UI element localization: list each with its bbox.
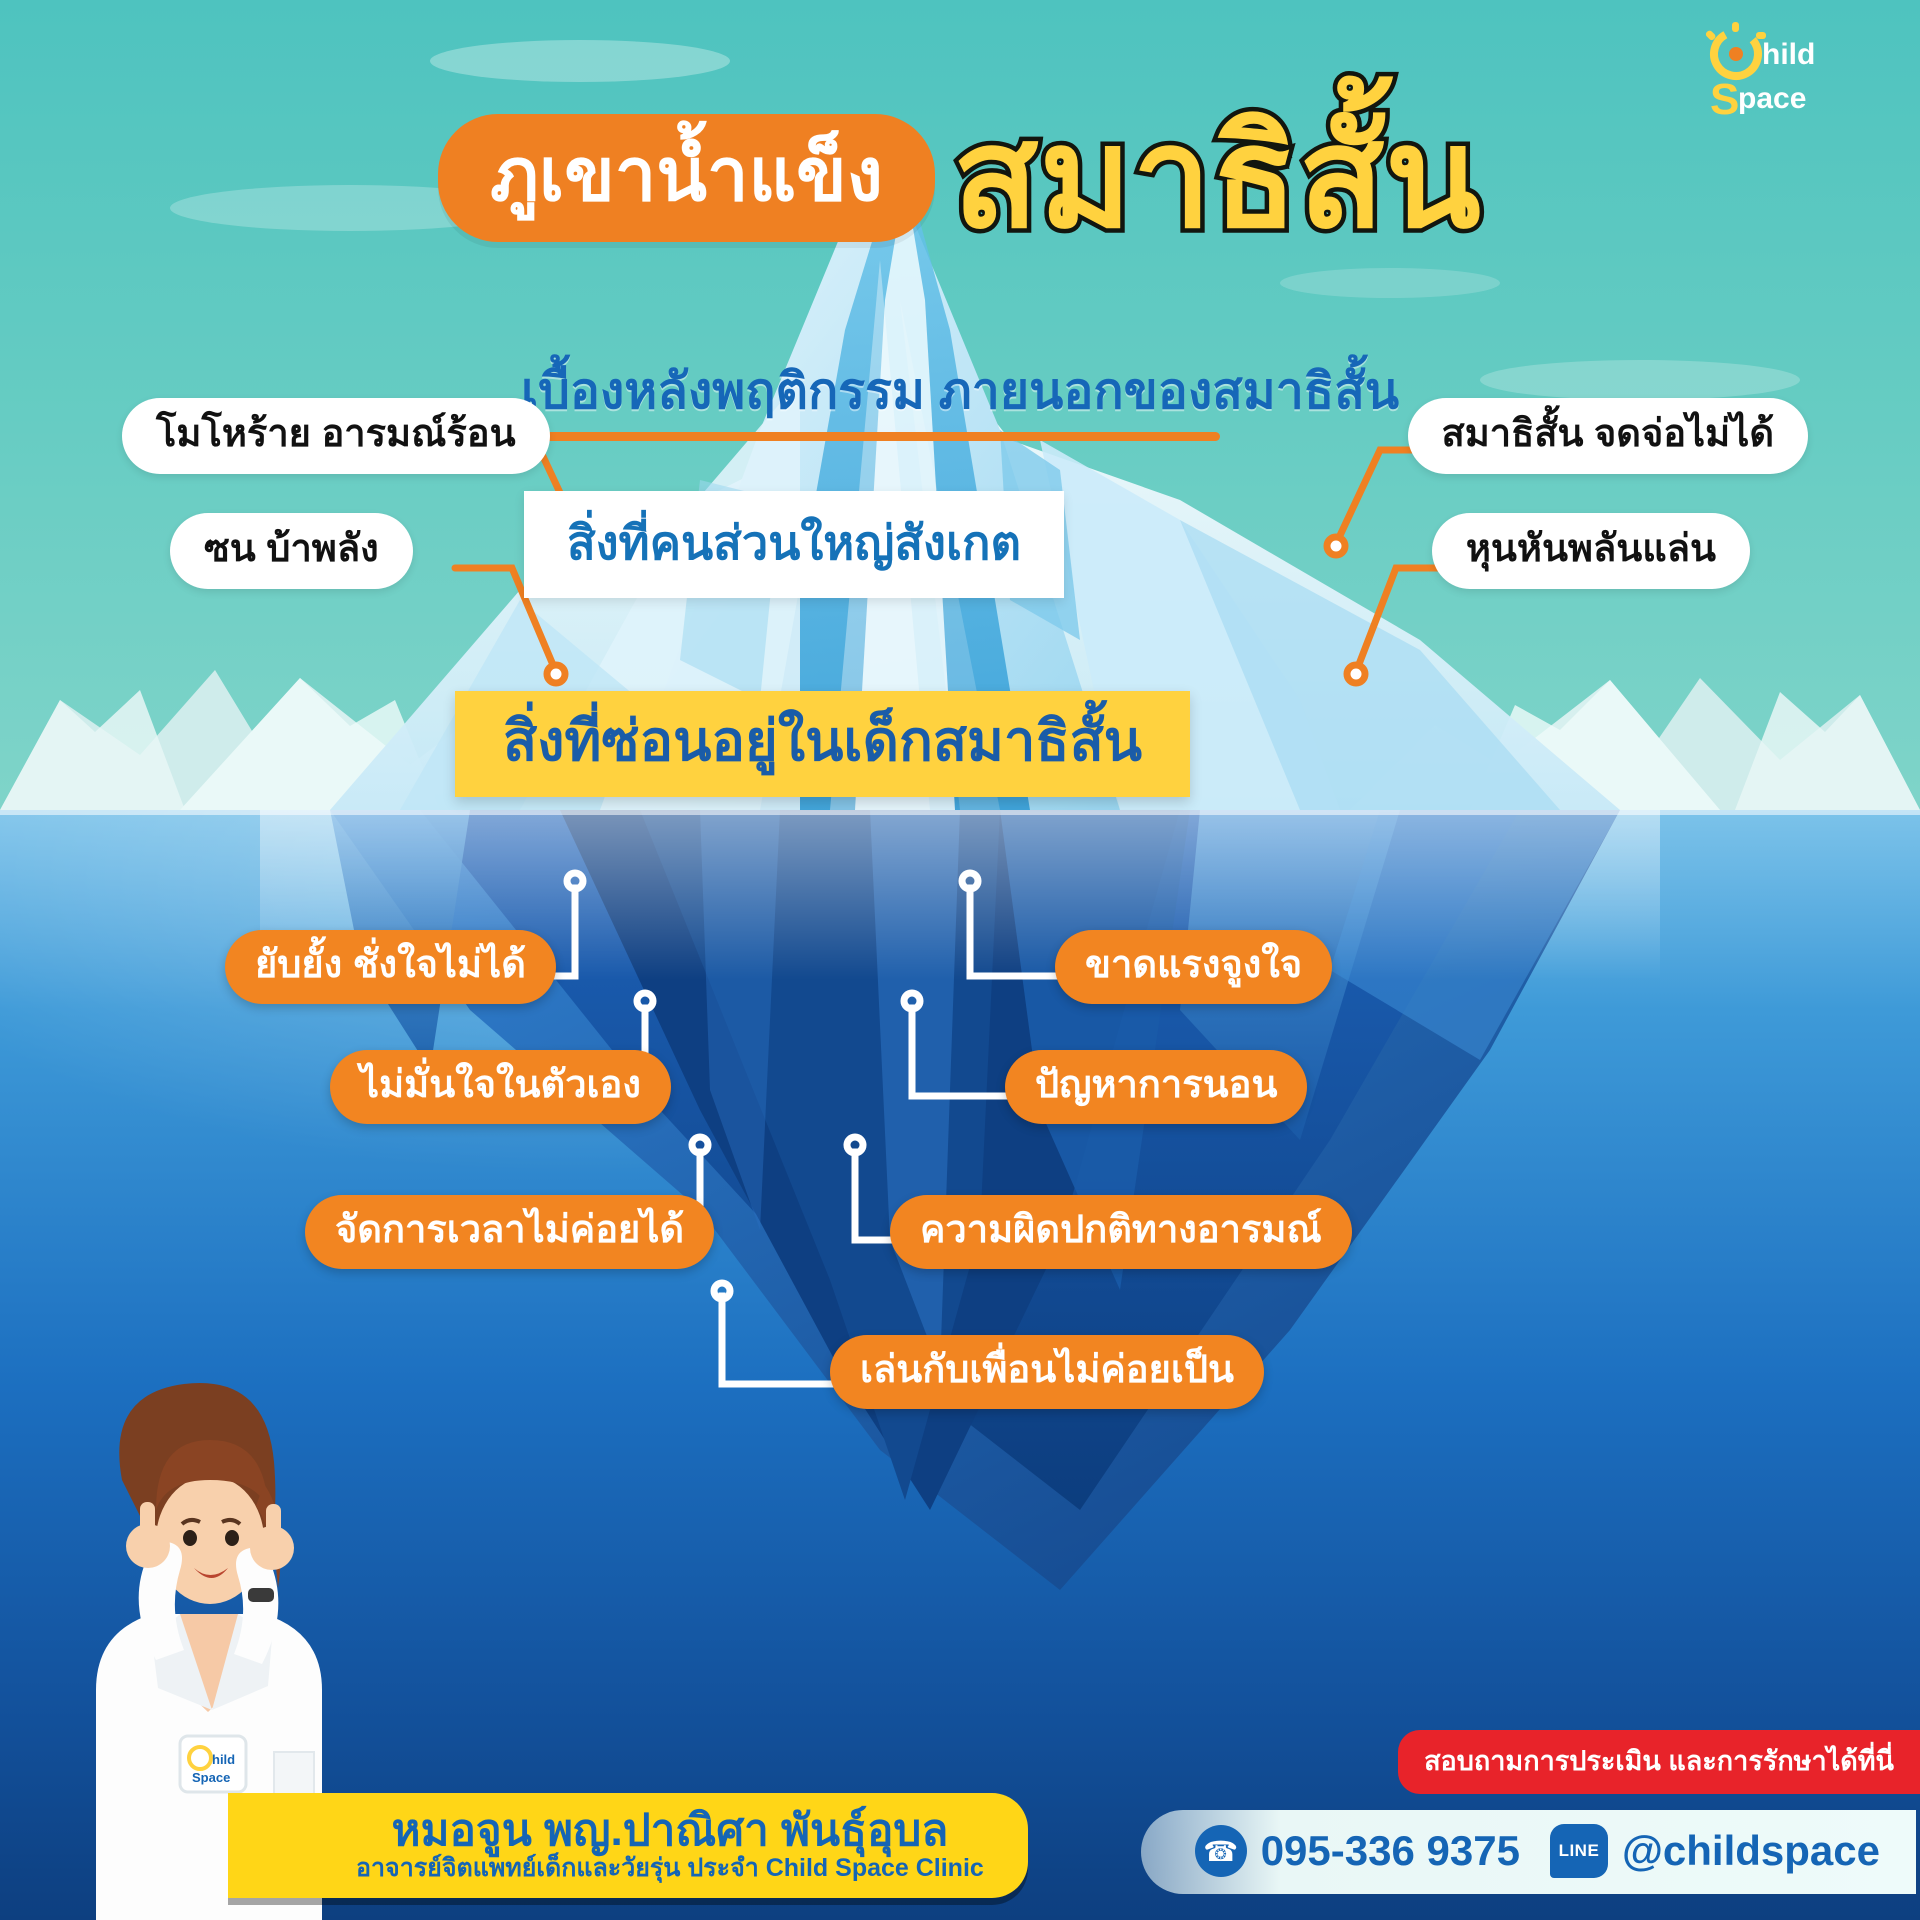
callout-below-right-3: ความผิดปกติทางอารมณ์	[890, 1195, 1352, 1269]
above-water-banner: สิ่งที่คนส่วนใหญ่สังเกต	[524, 491, 1064, 598]
phone-contact[interactable]: ☎ 095-336 9375	[1195, 1825, 1520, 1877]
svg-text:hild: hild	[212, 1752, 235, 1767]
doctor-role: อาจารย์จิตแพทย์เด็กและวัยรุ่น ประจำ Chil…	[356, 1855, 984, 1883]
svg-text:Space: Space	[192, 1770, 230, 1785]
callout-above-left-1: โมโหร้าย อารมณ์ร้อน	[122, 398, 550, 474]
cta-tag: สอบถามการประเมิน และการรักษาได้ที่นี่	[1398, 1730, 1920, 1794]
doctor-name: หมอจูน พญ.ปาณิศา พันธุ์อุบล	[356, 1807, 984, 1855]
infographic-poster: hild pace S ภูเขาน้ำแข็ง สมาธิสั้น เบื้อ…	[0, 0, 1920, 1920]
below-water-banner: สิ่งที่ซ่อนอยู่ในเด็กสมาธิสั้น	[455, 691, 1190, 797]
contact-bar: ☎ 095-336 9375 LINE @childspace	[1141, 1810, 1916, 1894]
title-row: ภูเขาน้ำแข็ง สมาธิสั้น	[0, 108, 1920, 248]
callout-below-left-2: ไม่มั่นใจในตัวเอง	[330, 1050, 671, 1124]
line-contact[interactable]: LINE @childspace	[1550, 1824, 1880, 1878]
doctor-name-plate: หมอจูน พญ.ปาณิศา พันธุ์อุบล อาจารย์จิตแพ…	[228, 1793, 1028, 1898]
callout-above-right-1: สมาธิสั้น จดจ่อไม่ได้	[1408, 398, 1808, 474]
callout-below-right-1: ขาดแรงจูงใจ	[1055, 930, 1332, 1004]
callout-below-right-2: ปัญหาการนอน	[1005, 1050, 1307, 1124]
callout-below-left-4: เล่นกับเพื่อนไม่ค่อยเป็น	[830, 1335, 1264, 1409]
phone-icon: ☎	[1195, 1825, 1247, 1877]
callout-above-left-2: ซน บ้าพลัง	[170, 513, 413, 589]
line-chat-icon: LINE	[1550, 1824, 1608, 1878]
phone-number: 095-336 9375	[1261, 1827, 1520, 1875]
callout-below-left-3: จัดการเวลาไม่ค่อยได้	[305, 1195, 714, 1269]
water-surface-line	[0, 810, 1920, 815]
callout-above-right-2: หุนหันพลันแล่น	[1432, 513, 1750, 589]
badge-title: ภูเขาน้ำแข็ง	[438, 114, 935, 242]
page-title: สมาธิสั้น	[953, 108, 1482, 248]
svg-text:hild: hild	[1762, 38, 1815, 71]
line-id: @childspace	[1622, 1827, 1880, 1875]
callout-below-left-1: ยับยั้ง ชั่งใจไม่ได้	[225, 930, 556, 1004]
